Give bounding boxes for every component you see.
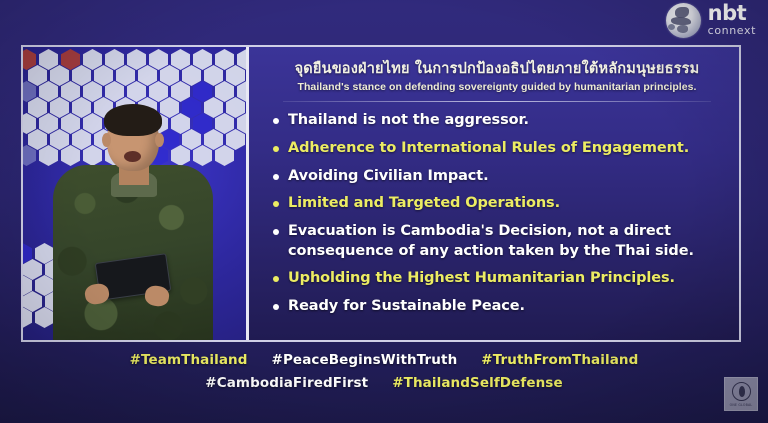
bullet-label: Thailand is not the aggressor. (288, 111, 529, 131)
presentation-slide-card: จุดยืนของฝ่ายไทย ในการปกป้องอธิปไตยภายใต… (21, 45, 741, 342)
list-item: Ready for Sustainable Peace. (271, 297, 723, 317)
speaker-mouth (124, 151, 141, 162)
speaker-ear-left (102, 133, 111, 147)
bullet-dot-icon (273, 118, 279, 124)
broadcaster-wordmark: nbt connext (708, 3, 756, 38)
watermark-circle-icon (732, 382, 751, 401)
list-item: Evacuation is Cambodia's Decision, not a… (271, 222, 723, 261)
broadcaster-logo-group: nbt connext (666, 3, 756, 38)
bullet-dot-icon (273, 304, 279, 310)
globe-emblem-icon (666, 3, 701, 38)
hashtag-row-2: #CambodiaFiredFirst #ThailandSelfDefense (0, 375, 768, 391)
bullet-dot-icon (273, 174, 279, 180)
slide-title-thai: จุดยืนของฝ่ายไทย ในการปกป้องอธิปไตยภายใต… (271, 60, 723, 78)
bullet-dot-icon (273, 201, 279, 207)
speaker-video-panel (23, 47, 249, 340)
bullet-label: Avoiding Civilian Impact. (288, 167, 489, 187)
list-item: Thailand is not the aggressor. (271, 111, 723, 131)
list-item: Limited and Targeted Operations. (271, 194, 723, 214)
title-divider (283, 101, 711, 102)
bullet-label: Ready for Sustainable Peace. (288, 297, 525, 317)
hashtag-thailand-self-defense: #ThailandSelfDefense (392, 375, 562, 391)
bullet-label: Upholding the Highest Humanitarian Princ… (288, 269, 675, 289)
list-item: Upholding the Highest Humanitarian Princ… (271, 269, 723, 289)
bullet-label: Evacuation is Cambodia's Decision, not a… (288, 222, 723, 261)
hashtag-peace-begins-with-truth: #PeaceBeginsWithTruth (272, 352, 458, 368)
watermark-label: ONE GLOBAL (730, 403, 753, 407)
hashtag-truth-from-thailand: #TruthFromThailand (481, 352, 638, 368)
slide-content-panel: จุดยืนของฝ่ายไทย ในการปกป้องอธิปไตยภายใต… (249, 47, 739, 340)
broadcaster-name: nbt (708, 3, 756, 24)
bullet-dot-icon (273, 146, 279, 152)
slide-bullet-list: Thailand is not the aggressor. Adherence… (271, 111, 723, 317)
broadcast-frame: nbt connext (0, 0, 768, 423)
hashtag-row-1: #TeamThailand #PeaceBeginsWithTruth #Tru… (0, 352, 768, 368)
list-item: Avoiding Civilian Impact. (271, 167, 723, 187)
bullet-label: Adherence to International Rules of Enga… (288, 139, 689, 159)
hashtag-block: #TeamThailand #PeaceBeginsWithTruth #Tru… (0, 352, 768, 398)
speaker-ear-right (155, 133, 164, 147)
speaker-hair (104, 104, 162, 136)
broadcaster-brand-bar: nbt connext (0, 0, 768, 44)
corner-watermark-badge: ONE GLOBAL (724, 377, 758, 411)
speaker-figure (23, 47, 246, 340)
slide-subtitle-english: Thailand's stance on defending sovereign… (271, 81, 723, 93)
bullet-label: Limited and Targeted Operations. (288, 194, 560, 214)
bullet-dot-icon (273, 276, 279, 282)
bullet-dot-icon (273, 229, 279, 235)
list-item: Adherence to International Rules of Enga… (271, 139, 723, 159)
broadcaster-subname: connext (708, 25, 756, 36)
hashtag-cambodia-fired-first: #CambodiaFiredFirst (205, 375, 368, 391)
hashtag-team-thailand: #TeamThailand (130, 352, 248, 368)
